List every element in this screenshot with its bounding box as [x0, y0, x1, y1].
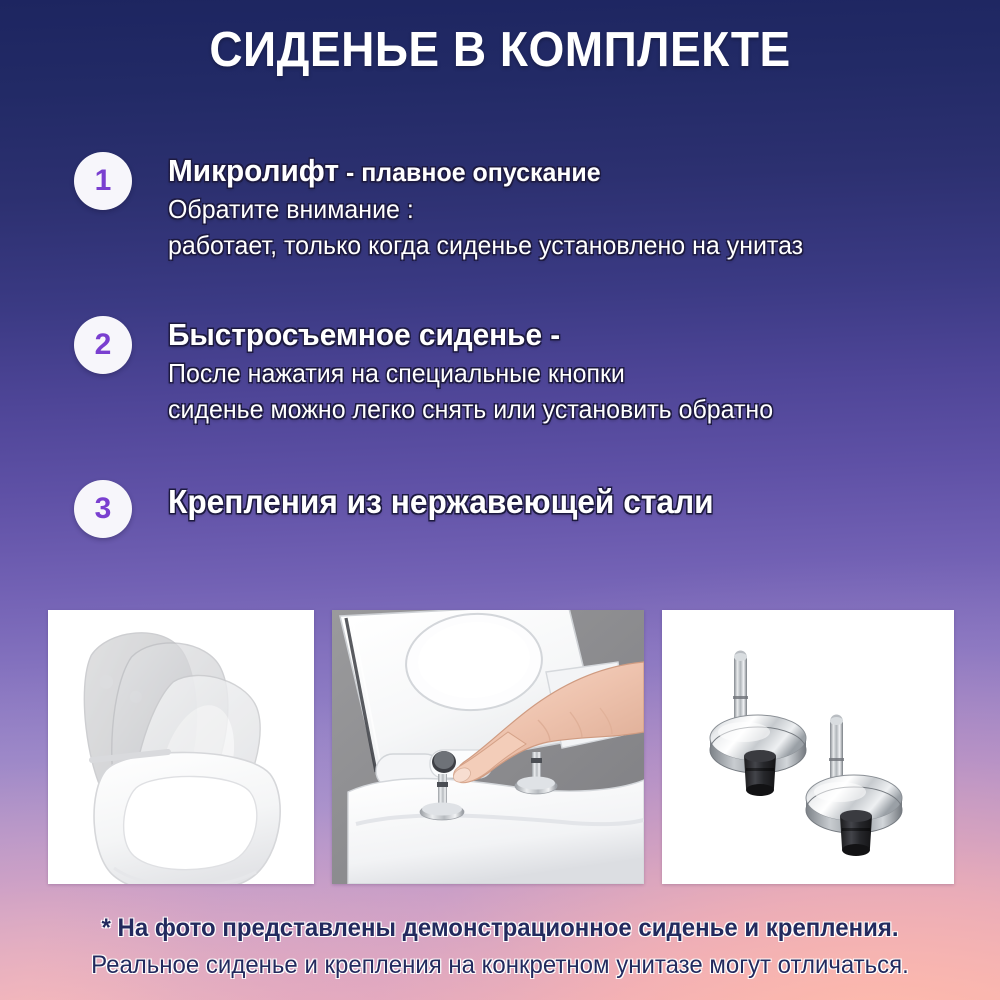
page-title: СИДЕНЬЕ В КОМПЛЕКТЕ: [30, 22, 970, 78]
feature-headline-3: Крепления из нержавеющей стали: [168, 480, 948, 524]
feature-headline-bold-1: Микролифт: [168, 153, 339, 188]
feature-subline-1-b: работает, только когда сиденье установле…: [168, 227, 948, 263]
feature-number-badge-2: 2: [74, 316, 132, 374]
feature-number-badge-3: 3: [74, 480, 132, 538]
infographic-poster: СИДЕНЬЕ В КОМПЛЕКТЕ 1 Микролифт - плавно…: [0, 0, 1000, 1000]
gallery-photo-soft-close: [48, 610, 314, 884]
feature-headline-tail-1: - плавное опускание: [339, 157, 601, 187]
gallery-photo-steel-fixtures: [662, 610, 954, 884]
feature-headline-1: Микролифт - плавное опускание: [168, 152, 948, 191]
feature-subline-1-a: Обратите внимание :: [168, 191, 948, 227]
feature-headline-bold-2: Быстросъемное сиденье -: [168, 317, 560, 352]
feature-body-1: Микролифт - плавное опускание Обратите в…: [168, 152, 980, 263]
feature-subline-2-b: сиденье можно легко снять или установить…: [168, 391, 948, 427]
footer-disclaimer: * На фото представлены демонстрационное …: [0, 910, 1000, 984]
footer-line-2: Реальное сиденье и крепления на конкретн…: [20, 946, 980, 984]
feature-headline-2: Быстросъемное сиденье -: [168, 316, 948, 355]
feature-subline-2-a: После нажатия на специальные кнопки: [168, 355, 948, 391]
footer-line-1: * На фото представлены демонстрационное …: [20, 910, 980, 946]
photo-gallery: [48, 610, 954, 884]
gallery-photo-quick-release: [332, 610, 644, 884]
feature-number-badge-1: 1: [74, 152, 132, 210]
feature-body-2: Быстросъемное сиденье - После нажатия на…: [168, 316, 980, 427]
feature-body-3: Крепления из нержавеющей стали: [168, 480, 980, 524]
